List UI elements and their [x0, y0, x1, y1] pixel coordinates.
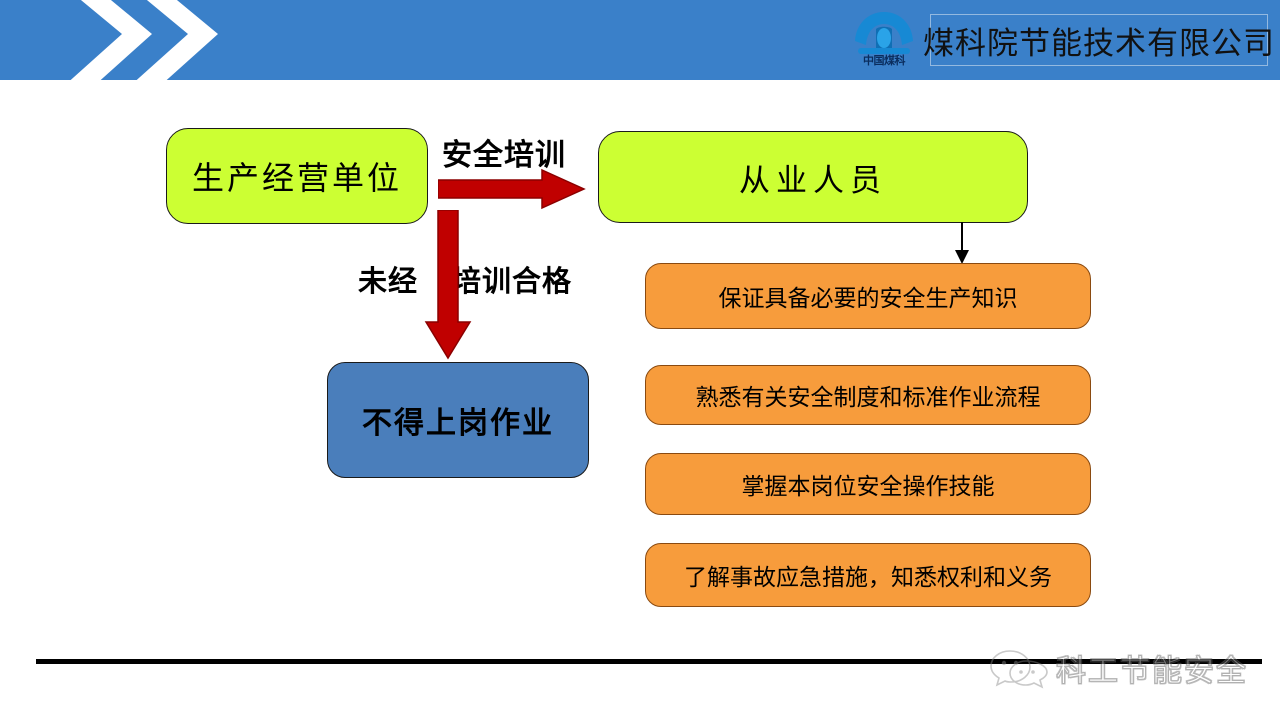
edge-label-untrained: 未经 [358, 258, 418, 300]
arrow-down-thin-icon [942, 222, 982, 266]
page-header: 中国煤科 煤科院节能技术有限公司 [0, 0, 1280, 80]
node-production-unit: 生产经营单位 [166, 128, 428, 224]
logo-caption: 中国煤科 [846, 52, 922, 68]
requirement-box: 掌握本岗位安全操作技能 [645, 453, 1091, 515]
double-chevron-right-icon [52, 0, 252, 80]
requirement-box: 熟悉有关安全制度和标准作业流程 [645, 365, 1091, 425]
company-name-box: 煤科院节能技术有限公司 [930, 14, 1268, 66]
requirement-box: 了解事故应急措施，知悉权利和义务 [645, 543, 1091, 607]
company-name: 煤科院节能技术有限公司 [923, 18, 1275, 63]
arrow-down-red-icon [420, 210, 476, 360]
footer-watermark: 科工节能安全 [990, 640, 1260, 696]
node-workers: 从业人员 [598, 131, 1028, 223]
requirement-box: 保证具备必要的安全生产知识 [645, 263, 1091, 329]
watermark-text: 科工节能安全 [1056, 646, 1248, 690]
arrow-right-red-icon [438, 168, 586, 212]
node-no-work-allowed: 不得上岗作业 [327, 362, 589, 478]
wechat-bubble-icon [990, 647, 1048, 689]
